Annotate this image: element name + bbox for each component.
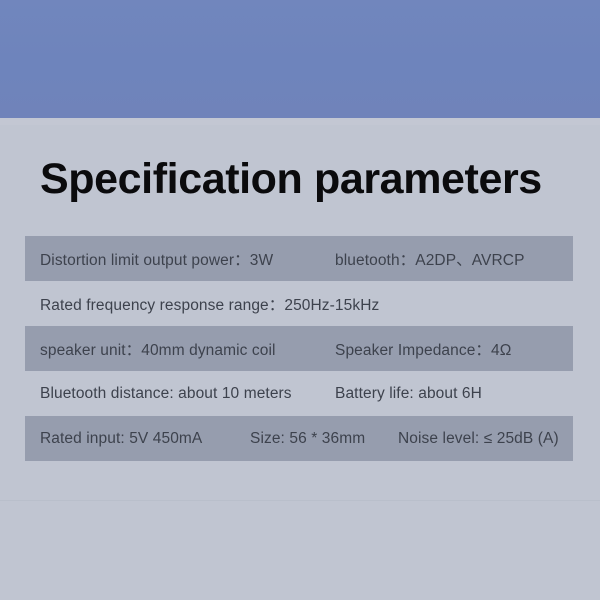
banner-edge-highlight: [0, 118, 600, 125]
spec-cell-rated-frequency-response-range: Rated frequency response range：250Hz-15k…: [40, 293, 379, 315]
table-row: Rated frequency response range：250Hz-15k…: [25, 281, 573, 326]
footer-area: [0, 501, 600, 600]
product-spec-page: Specification parameters Distortion limi…: [0, 0, 600, 600]
page-title: Specification parameters: [40, 158, 542, 201]
spec-cell-bluetooth-profiles: bluetooth：A2DP、AVRCP: [335, 248, 525, 270]
table-row: Rated input: 5V 450mA Size: 56 * 36mm No…: [25, 416, 573, 461]
table-row: Bluetooth distance: about 10 meters Batt…: [25, 371, 573, 416]
spec-cell-rated-input: Rated input: 5V 450mA: [40, 430, 202, 448]
spec-cell-speaker-impedance: Speaker Impedance：4Ω: [335, 338, 511, 360]
top-banner: [0, 0, 600, 118]
spec-cell-noise-level: Noise level: ≤ 25dB (A): [398, 430, 559, 448]
spec-cell-speaker-unit: speaker unit：40mm dynamic coil: [40, 338, 276, 360]
spec-cell-bluetooth-distance: Bluetooth distance: about 10 meters: [40, 385, 292, 403]
spec-cell-distortion-limit-output-power: Distortion limit output power：3W: [40, 248, 273, 270]
table-row: Distortion limit output power：3W bluetoo…: [25, 236, 573, 281]
table-row: speaker unit：40mm dynamic coil Speaker I…: [25, 326, 573, 371]
specification-table: Distortion limit output power：3W bluetoo…: [25, 236, 573, 461]
spec-cell-battery-life: Battery life: about 6H: [335, 385, 482, 403]
spec-cell-size: Size: 56 * 36mm: [250, 430, 365, 448]
